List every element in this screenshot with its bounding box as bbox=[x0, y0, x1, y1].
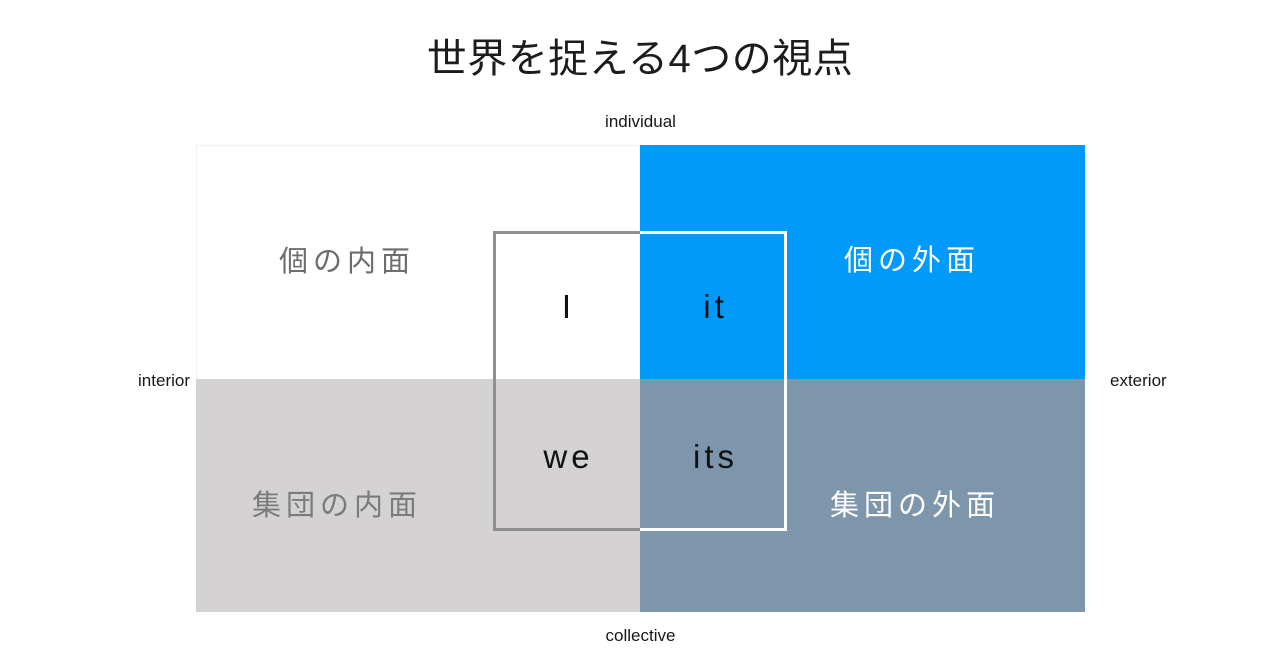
quadrant-individual-interior: 個の内面 bbox=[196, 145, 640, 379]
quadrant-individual-exterior: 個の外面 bbox=[640, 145, 1085, 379]
quadrant-label-individual-interior: 個の内面 bbox=[279, 248, 415, 277]
axis-label-interior: interior bbox=[94, 371, 190, 391]
quadrant-label-collective-interior: 集団の内面 bbox=[252, 492, 422, 521]
page-title: 世界を捉える4つの視点 bbox=[0, 36, 1280, 82]
axis-label-exterior: exterior bbox=[1110, 371, 1230, 391]
axis-label-individual: individual bbox=[196, 112, 1085, 132]
quadrant-collective-interior: 集団の内面 bbox=[196, 379, 640, 612]
quadrant-label-collective-exterior: 集団の外面 bbox=[830, 492, 1000, 521]
quadrant-matrix: 個の内面 個の外面 集団の内面 集団の外面 I it we its bbox=[196, 145, 1085, 612]
quadrant-collective-exterior: 集団の外面 bbox=[640, 379, 1085, 612]
quadrant-label-individual-exterior: 個の外面 bbox=[844, 247, 980, 276]
axis-label-collective: collective bbox=[196, 626, 1085, 646]
